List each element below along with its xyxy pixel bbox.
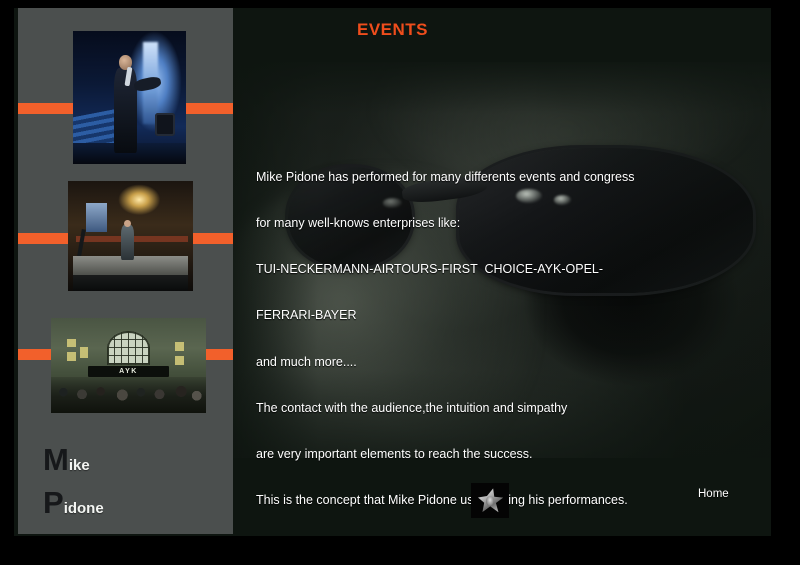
thumb3-lit-window	[67, 352, 76, 361]
events-description-text: Mike Pidone has performed for many diffe…	[256, 139, 656, 536]
thumb3-lit-window	[80, 347, 88, 358]
star-logo-icon	[471, 483, 509, 518]
brand-line-mike: M ike	[43, 444, 104, 475]
brand-wordmark: M ike P idone	[43, 444, 104, 530]
body-line: Mike Pidone has performed for many diffe…	[256, 170, 656, 185]
thumb2-performer-body	[121, 225, 135, 260]
brand-cap-p: P	[43, 487, 63, 518]
brand-rest-ike: ike	[69, 458, 90, 473]
body-line: The contact with the audience,the intuit…	[256, 401, 656, 416]
body-line: and much more....	[256, 355, 656, 370]
brand-line-pidone: P idone	[43, 487, 104, 518]
body-line: for many well-knows enterprises like:	[256, 216, 656, 231]
sidebar-thumbnail-singer-on-blue-stage[interactable]	[73, 31, 186, 164]
venue-sign-text: AYK	[119, 368, 138, 375]
thumb3-crowd	[51, 377, 206, 413]
page-root: EVENTS Mike Pidone has performed for man…	[0, 0, 800, 565]
thumb3-lit-window	[175, 356, 184, 365]
thumb2-projection-screen	[86, 203, 107, 232]
home-link[interactable]: Home	[698, 488, 729, 500]
body-line: TUI-NECKERMANN-AIRTOURS-FIRST CHOICE-AYK…	[256, 262, 656, 277]
thumb3-lit-window	[67, 339, 76, 348]
body-line: This is the concept that Mike Pidone use…	[256, 493, 656, 508]
star-logo-face	[486, 496, 494, 506]
sidebar-thumbnail-singer-on-theatre-stage[interactable]	[68, 181, 193, 291]
thumb1-stage-speaker	[155, 113, 174, 136]
thumb3-venue-marquee: AYK	[88, 366, 169, 376]
page-title: EVENTS	[14, 20, 771, 40]
body-line: are very important elements to reach the…	[256, 447, 656, 462]
body-line: FERRARI-BAYER	[256, 308, 656, 323]
brand-rest-idone: idone	[64, 501, 104, 516]
sidebar-thumbnail-ayk-venue-entrance[interactable]: AYK	[51, 318, 206, 413]
thumb3-lit-window	[175, 342, 184, 352]
thumb3-window-mullions	[107, 331, 150, 365]
thumb2-stage-front	[73, 275, 188, 292]
brand-cap-m: M	[43, 444, 68, 475]
sidebar: AYK M ike P idone	[18, 8, 233, 534]
